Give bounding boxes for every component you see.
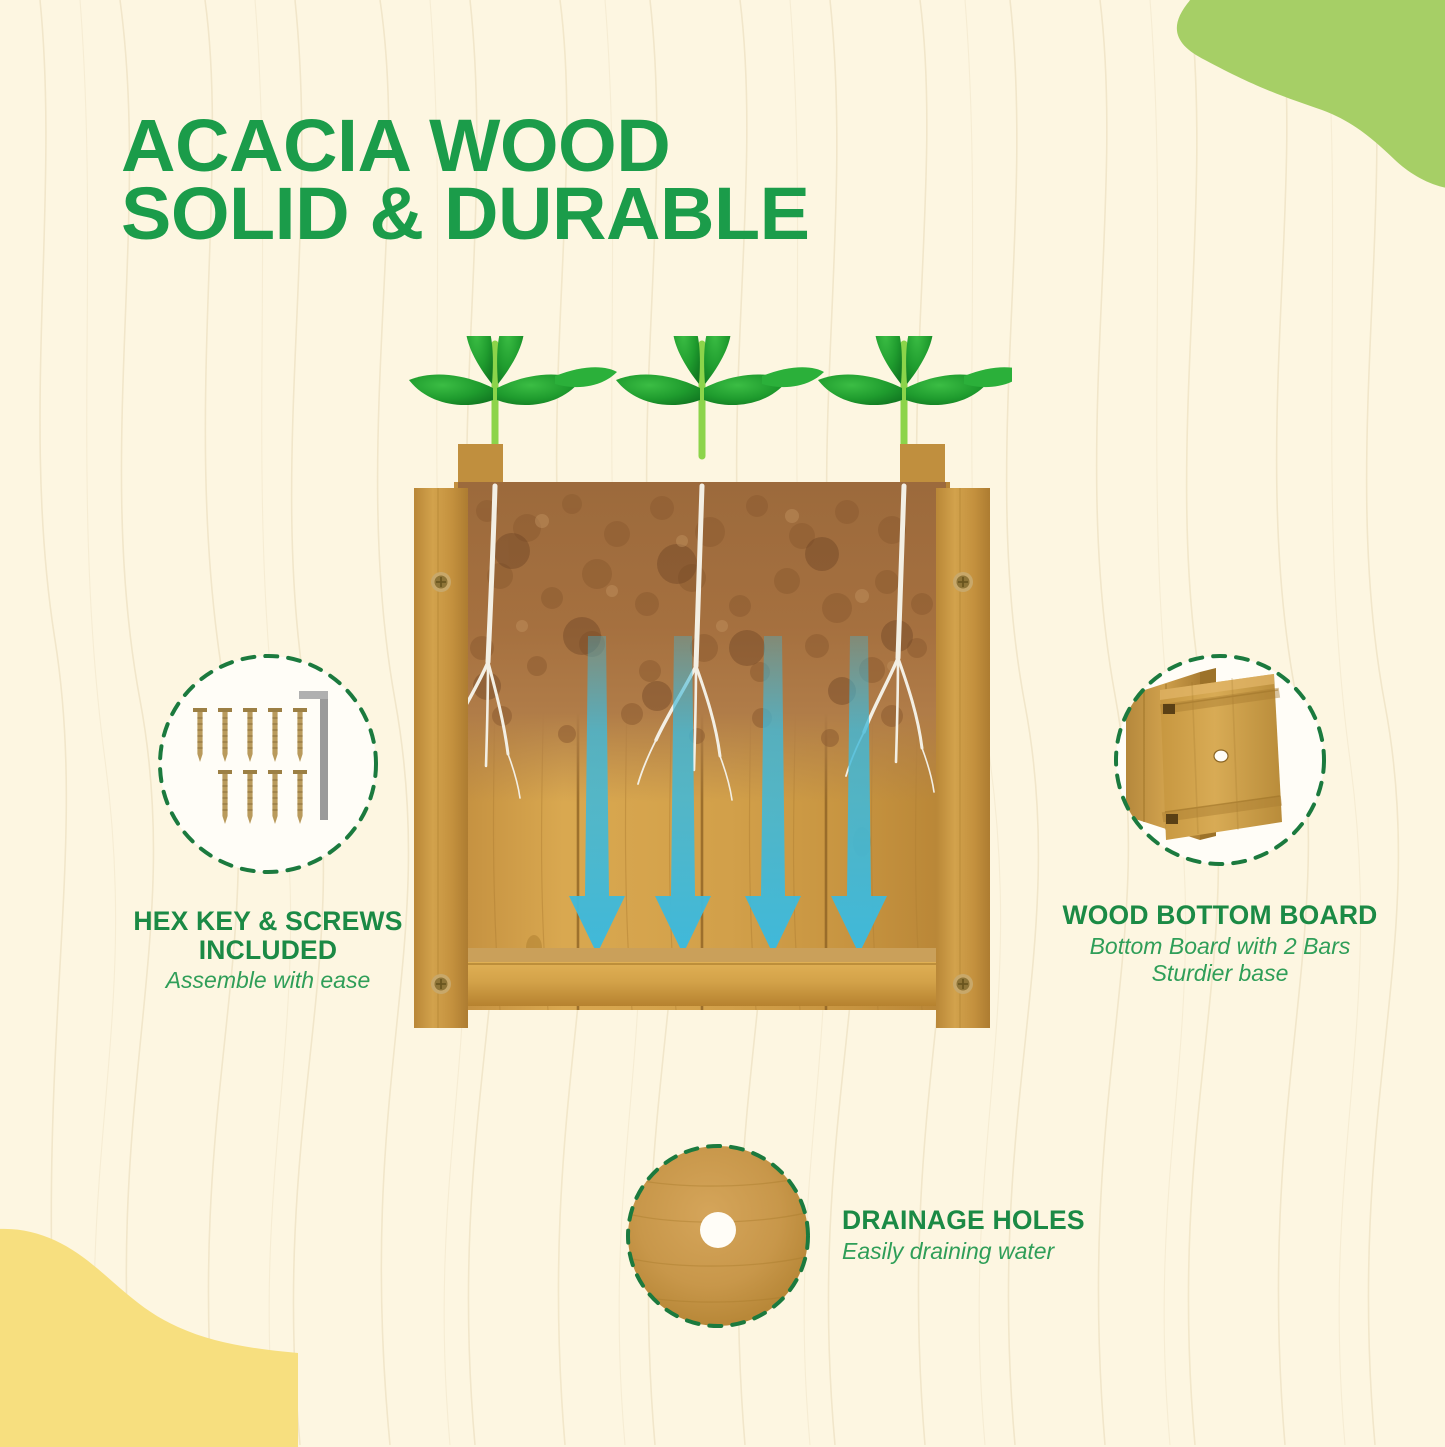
- feature-wood-bottom-board: WOOD BOTTOM BOARD Bottom Board with 2 Ba…: [1010, 644, 1430, 987]
- feature-title: WOOD BOTTOM BOARD: [1010, 901, 1430, 930]
- drainage-hole-icon: [620, 1138, 816, 1334]
- hole: [700, 1212, 736, 1248]
- seedlings-group: [409, 336, 1012, 456]
- bottom-rail-shadow: [458, 948, 946, 962]
- feature-title: DRAINAGE HOLES: [842, 1206, 1085, 1235]
- screw-right-upper: [953, 572, 973, 592]
- feature-subtitle: Assemble with ease: [48, 967, 488, 994]
- wood-bottom-board-icon-circle: [1104, 644, 1336, 881]
- feature-title: HEX KEY & SCREWS INCLUDED: [48, 907, 488, 964]
- wood-bottom-board-icon: [1104, 644, 1336, 876]
- page-title: ACACIA WOOD SOLID & DURABLE: [121, 112, 796, 248]
- headline-line-1: ACACIA WOOD: [121, 112, 809, 180]
- screw-left-upper: [431, 572, 451, 592]
- corner-post-right: [936, 488, 990, 1028]
- decorative-green-blob-top-right: [1147, 0, 1445, 188]
- front-board: [1160, 674, 1282, 840]
- screw-right-lower: [953, 974, 973, 994]
- feature-drainage-holes: DRAINAGE HOLES Easily draining water: [620, 1138, 1300, 1339]
- bottom-rail: [458, 962, 946, 1006]
- headline-line-2: SOLID & DURABLE: [121, 180, 809, 248]
- drainage-hole-icon-circle: [620, 1138, 816, 1339]
- decorative-yellow-blob-bottom-left: [0, 1217, 298, 1447]
- feature-subtitle: Bottom Board with 2 Bars Sturdier base: [1010, 933, 1430, 987]
- feature-subtitle: Easily draining water: [842, 1238, 1085, 1265]
- hex-key-screws-icon-circle: [152, 648, 384, 885]
- feature-hex-key-screws: HEX KEY & SCREWS INCLUDED Assemble with …: [48, 648, 488, 994]
- screws-and-hex-key-icon: [152, 648, 384, 880]
